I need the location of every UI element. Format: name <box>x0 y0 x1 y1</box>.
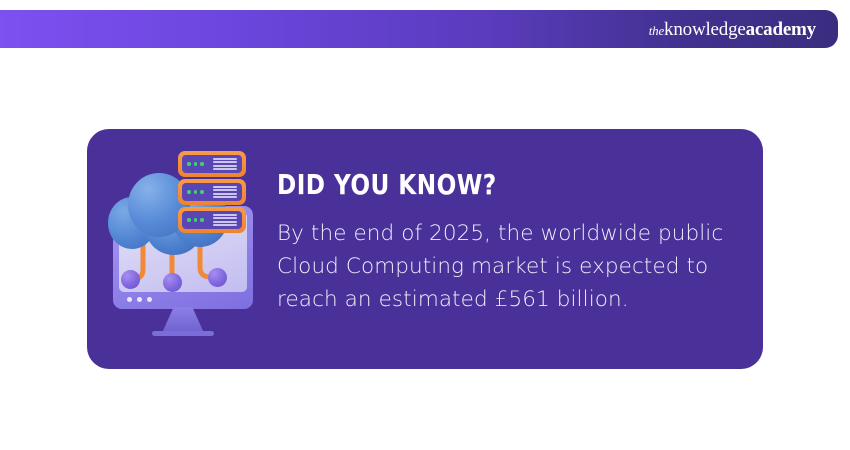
server-stack <box>178 151 246 233</box>
server-led-group <box>187 190 204 194</box>
led-icon <box>194 190 198 194</box>
infographic-page: theknowledgeacademy <box>0 0 850 450</box>
server-led-group <box>187 162 204 166</box>
server-unit <box>178 179 246 205</box>
server-bar <box>213 221 237 223</box>
body-text-line: Cloud Computing market is expected to <box>277 250 747 283</box>
server-panel <box>182 211 242 229</box>
server-led-group <box>187 218 204 222</box>
server-bar-group <box>213 214 237 227</box>
led-icon <box>200 218 204 222</box>
server-bar <box>213 196 237 198</box>
server-bar <box>213 158 237 160</box>
led-icon <box>187 190 191 194</box>
logo-mid: knowledge <box>664 19 746 40</box>
server-bar-group <box>213 186 237 199</box>
server-bar <box>213 224 237 226</box>
body-text-line: By the end of 2025, the worldwide public <box>277 217 747 250</box>
server-bar <box>213 217 237 219</box>
fact-text-block: DID YOU KNOW? By the end of 2025, the wo… <box>277 171 747 316</box>
network-node <box>121 270 140 289</box>
led-icon <box>187 162 191 166</box>
led-icon <box>200 162 204 166</box>
server-panel <box>182 155 242 173</box>
server-panel <box>182 183 242 201</box>
server-unit <box>178 207 246 233</box>
server-bar <box>213 161 237 163</box>
server-bar <box>213 165 237 167</box>
server-unit <box>178 151 246 177</box>
logo-suffix: academy <box>746 19 816 40</box>
logo-prefix: the <box>649 23 664 38</box>
led-icon <box>200 190 204 194</box>
body-text: By the end of 2025, the worldwide public… <box>277 217 747 316</box>
cloud-computing-illustration <box>100 151 265 351</box>
header-bar: theknowledgeacademy <box>0 10 838 48</box>
server-bar <box>213 168 237 170</box>
led-icon <box>194 162 198 166</box>
network-node <box>208 268 227 287</box>
led-icon <box>194 218 198 222</box>
server-bar <box>213 214 237 216</box>
server-bar <box>213 186 237 188</box>
headline: DID YOU KNOW? <box>277 171 709 199</box>
server-bar-group <box>213 158 237 171</box>
network-node <box>163 273 182 292</box>
fact-card: DID YOU KNOW? By the end of 2025, the wo… <box>87 129 763 369</box>
server-bar <box>213 193 237 195</box>
body-text-line: reach an estimated £561 billion. <box>277 283 747 316</box>
server-bar <box>213 189 237 191</box>
led-icon <box>187 218 191 222</box>
brand-logo[interactable]: theknowledgeacademy <box>649 20 816 39</box>
